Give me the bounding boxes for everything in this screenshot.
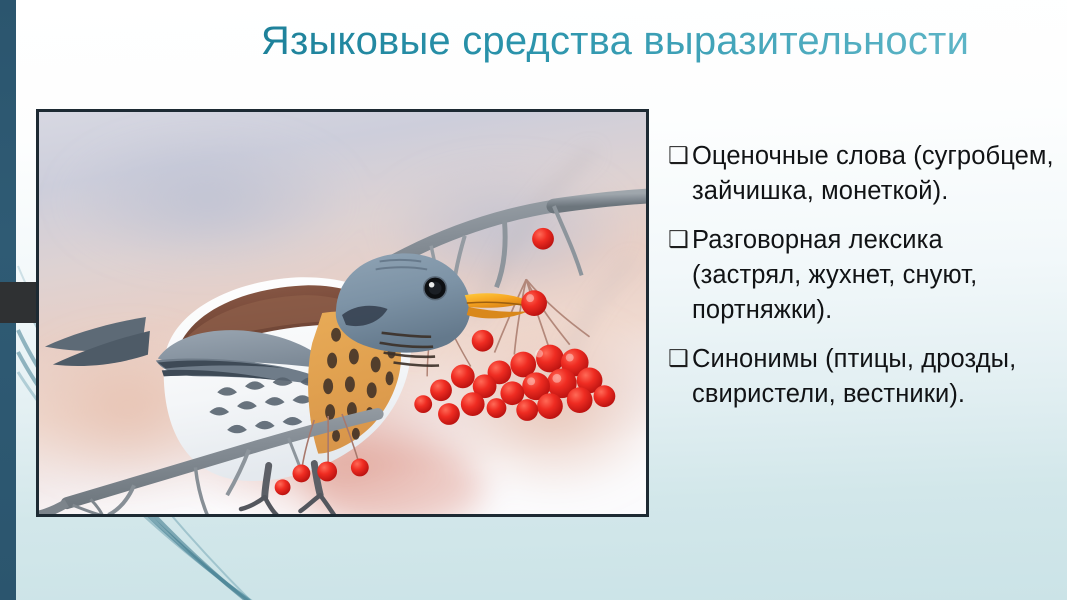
square-bullet-icon: ❑ bbox=[668, 139, 692, 174]
page-title: Языковые средства выразительности bbox=[200, 14, 1030, 68]
list-item-label: Разговорная лексика (застрял, жухнет, сн… bbox=[692, 223, 1054, 328]
list-item-label: Оценочные слова (сугробцем, зайчишка, мо… bbox=[692, 139, 1054, 209]
square-bullet-icon: ❑ bbox=[668, 342, 692, 377]
bullet-list: ❑ Оценочные слова (сугробцем, зайчишка, … bbox=[668, 139, 1054, 426]
list-item: ❑ Оценочные слова (сугробцем, зайчишка, … bbox=[668, 139, 1054, 209]
square-bullet-icon: ❑ bbox=[668, 223, 692, 258]
list-item: ❑ Разговорная лексика (застрял, жухнет, … bbox=[668, 223, 1054, 328]
list-item: ❑ Синонимы (птицы, дрозды, свиристели, в… bbox=[668, 342, 1054, 412]
slide: Языковые средства выразительности bbox=[0, 0, 1067, 600]
left-accent-block bbox=[0, 282, 36, 323]
list-item-label: Синонимы (птицы, дрозды, свиристели, вес… bbox=[692, 342, 1054, 412]
photo-frame bbox=[36, 109, 649, 517]
bird-photo bbox=[39, 112, 646, 514]
